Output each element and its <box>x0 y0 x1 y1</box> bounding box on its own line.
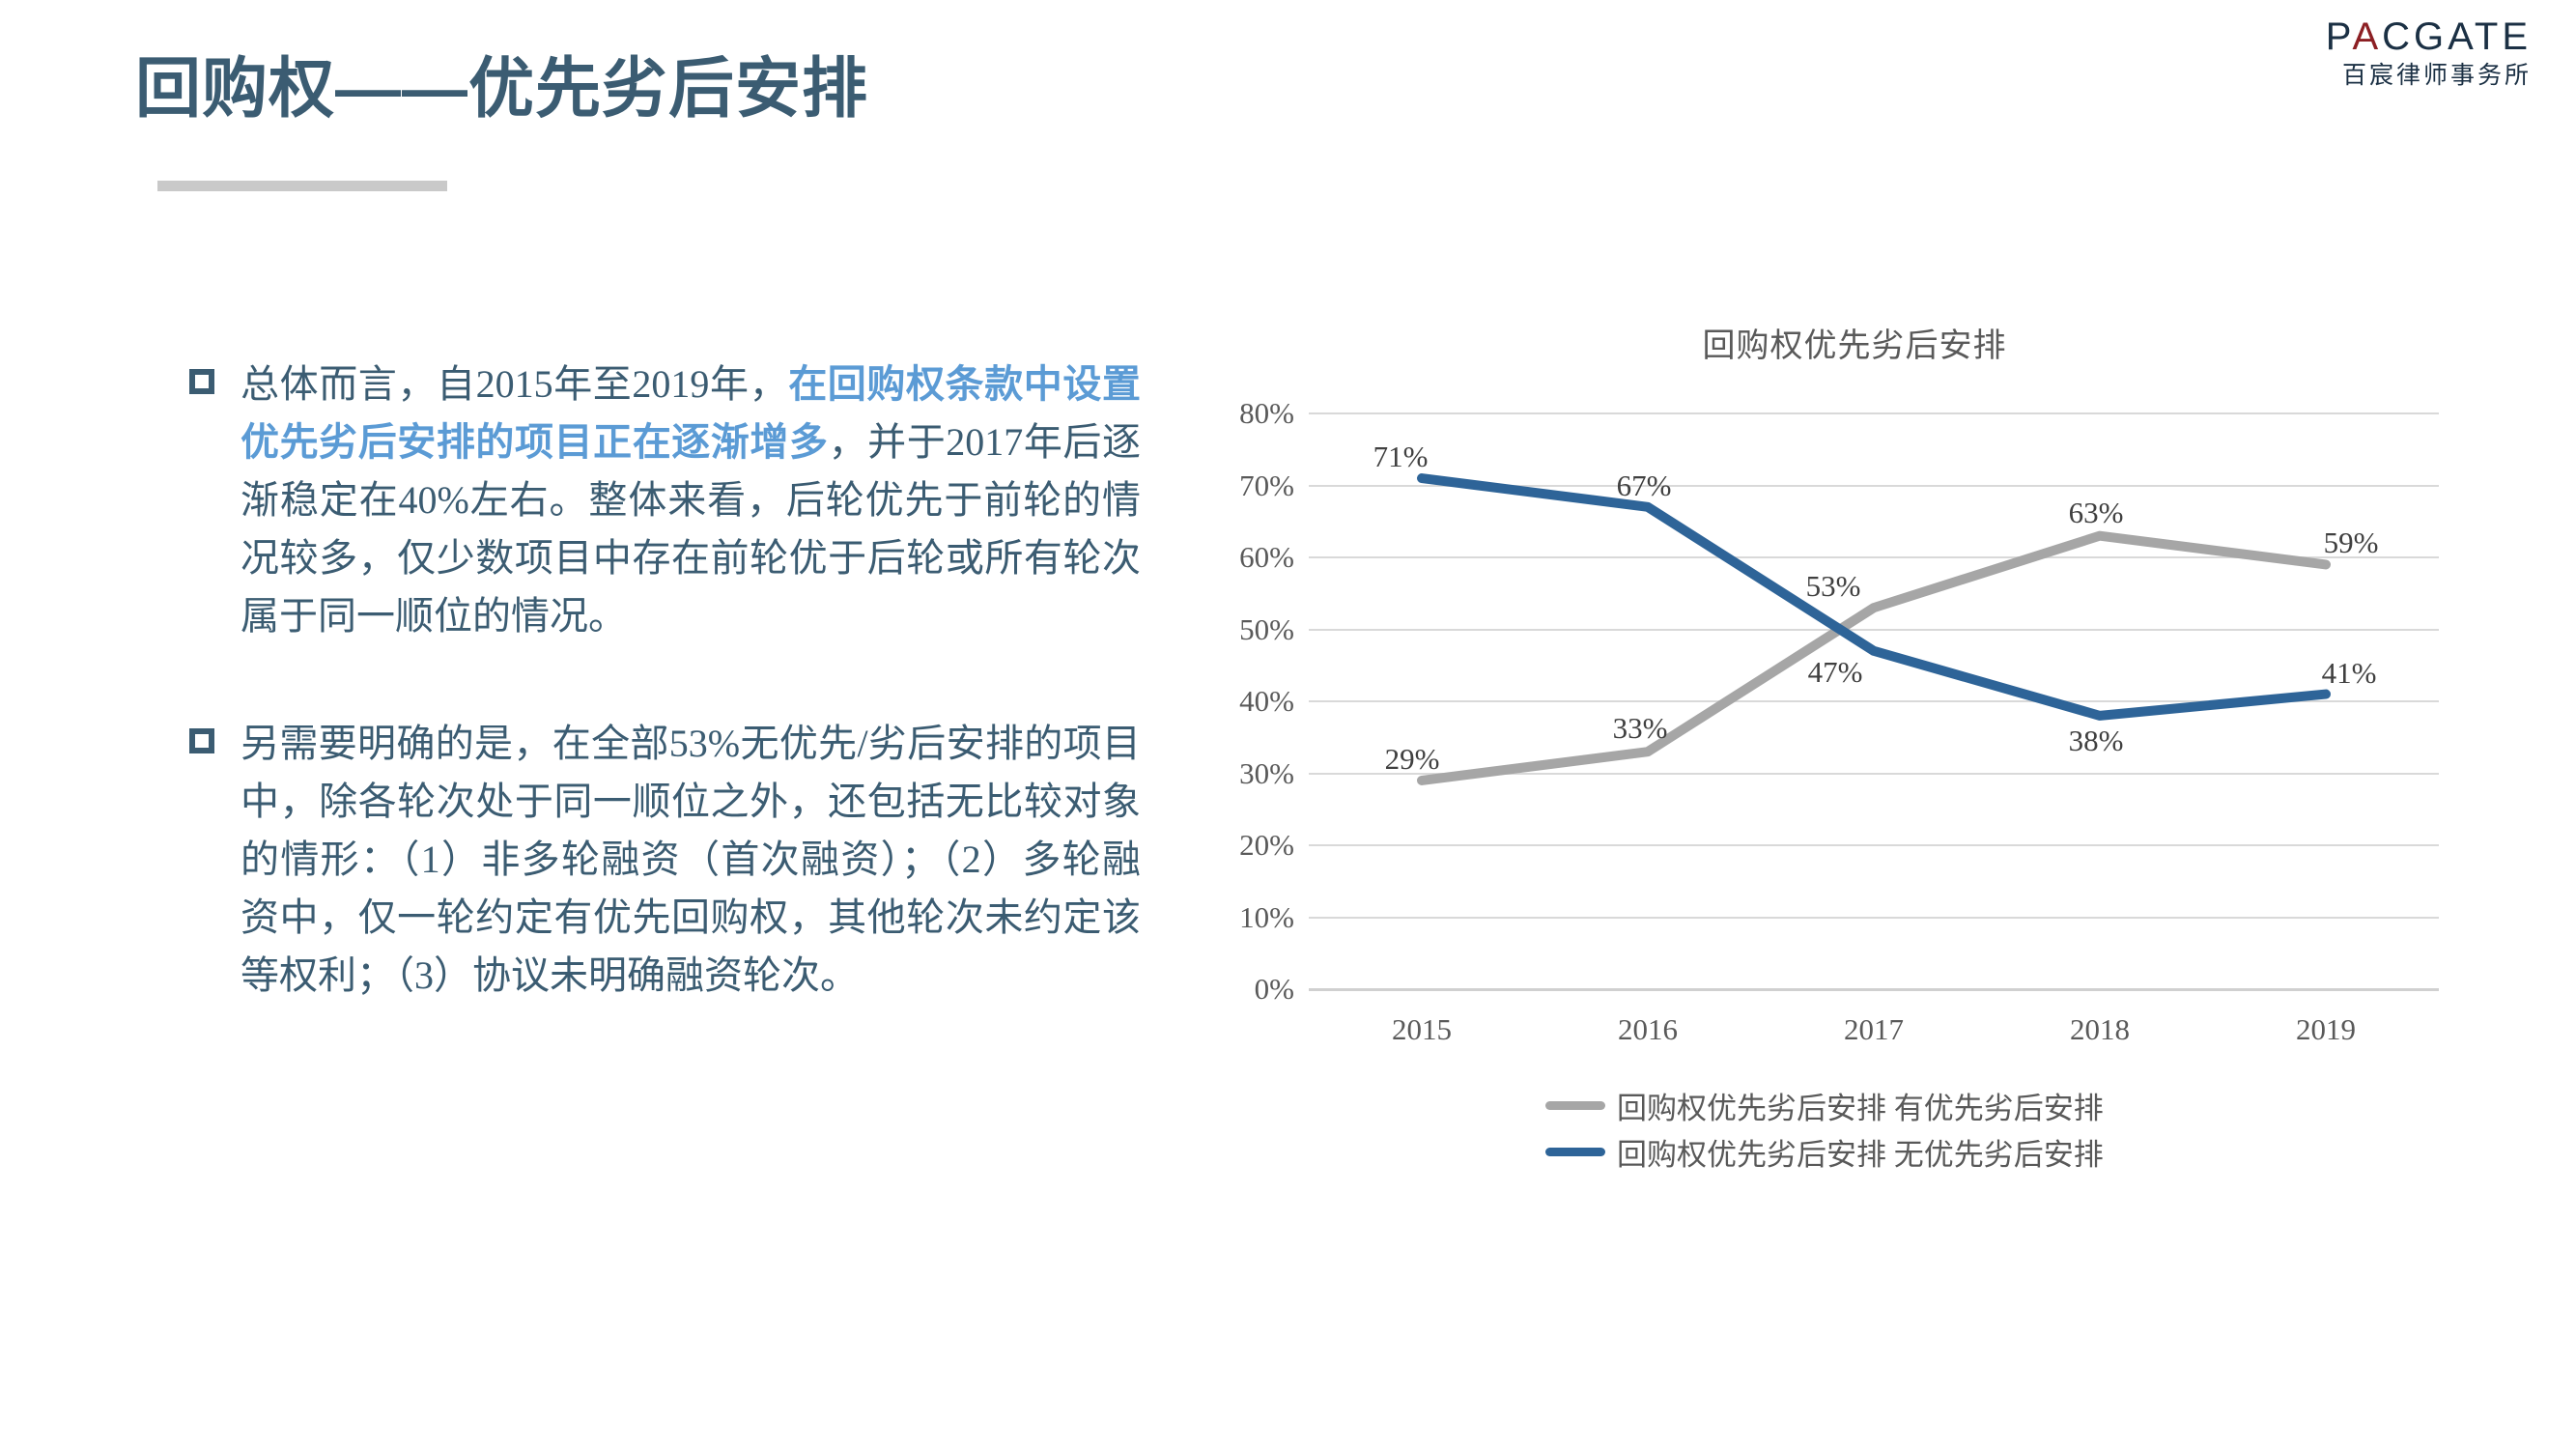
series-line <box>1422 478 2326 716</box>
bullet-2-lead: 另需要明确的是，在全部53%无优先/劣后安排的项目中，除各轮次处于同一顺位之外，… <box>241 722 1141 997</box>
logo-wordmark-accent-letter: A <box>2352 15 2382 58</box>
data-point-label: 38% <box>2069 724 2124 758</box>
series-line <box>1422 536 2326 781</box>
line-chart: 回购权优先劣后安排 0%10%20%30%40%50%60%70%80% 201… <box>1227 319 2482 1121</box>
legend-item[interactable]: 回购权优先劣后安排 有优先劣后安排 <box>1545 1082 2104 1128</box>
logo-wordmark: PACGATE <box>2326 17 2532 56</box>
legend-item[interactable]: 回购权优先劣后安排 无优先劣后安排 <box>1545 1128 2104 1175</box>
list-item: 另需要明确的是，在全部53%无优先/劣后安排的项目中，除各轮次处于同一顺位之外，… <box>189 715 1141 1005</box>
bullet-1-lead: 总体而言，自2015年至2019年， <box>241 362 788 406</box>
company-logo: PACGATE 百宸律师事务所 <box>2326 17 2532 88</box>
data-point-label: 29% <box>1385 742 1440 777</box>
y-axis-tick-label: 60% <box>1159 540 1294 575</box>
list-item: 总体而言，自2015年至2019年，在回购权条款中设置优先劣后安排的项目正在逐渐… <box>189 355 1141 645</box>
chart-title: 回购权优先劣后安排 <box>1227 319 2482 366</box>
logo-chinese-name: 百宸律师事务所 <box>2326 64 2532 88</box>
y-axis-tick-label: 80% <box>1159 396 1294 431</box>
title-underline-rule <box>157 181 447 191</box>
legend-color-swatch <box>1545 1101 1605 1110</box>
page-title: 回购权——优先劣后安排 <box>135 35 868 130</box>
bullet-paragraph: 总体而言，自2015年至2019年，在回购权条款中设置优先劣后安排的项目正在逐渐… <box>241 355 1141 645</box>
data-point-label: 47% <box>1808 655 1863 690</box>
bullet-list: 总体而言，自2015年至2019年，在回购权条款中设置优先劣后安排的项目正在逐渐… <box>189 355 1141 1005</box>
chart-series-lines <box>1309 413 2439 989</box>
x-axis-tick-label: 2016 <box>1551 1012 1744 1047</box>
data-point-label: 53% <box>1806 569 1861 604</box>
y-axis-tick-label: 50% <box>1159 612 1294 647</box>
square-bullet-icon <box>189 369 214 394</box>
x-axis-tick-label: 2017 <box>1777 1012 1970 1047</box>
y-axis-tick-label: 40% <box>1159 684 1294 719</box>
y-axis-tick-label: 70% <box>1159 469 1294 503</box>
data-point-label: 33% <box>1613 711 1668 746</box>
chart-plot-area: 0%10%20%30%40%50%60%70%80% 2015201620172… <box>1309 413 2439 989</box>
data-point-label: 63% <box>2069 496 2124 530</box>
legend-label: 回购权优先劣后安排 无优先劣后安排 <box>1617 1130 2104 1174</box>
x-axis-tick-label: 2019 <box>2229 1012 2422 1047</box>
data-point-label: 71% <box>1373 440 1429 474</box>
data-point-label: 41% <box>2322 656 2377 691</box>
legend-label: 回购权优先劣后安排 有优先劣后安排 <box>1617 1084 2104 1127</box>
bullet-paragraph: 另需要明确的是，在全部53%无优先/劣后安排的项目中，除各轮次处于同一顺位之外，… <box>241 715 1141 1005</box>
x-axis-tick-label: 2015 <box>1325 1012 1518 1047</box>
x-axis-tick-label: 2018 <box>2003 1012 2196 1047</box>
y-axis-tick-label: 20% <box>1159 828 1294 863</box>
square-bullet-icon <box>189 728 214 753</box>
logo-wordmark-prefix: P <box>2326 15 2353 58</box>
y-axis-tick-label: 30% <box>1159 756 1294 791</box>
legend-color-swatch <box>1545 1148 1605 1156</box>
logo-wordmark-suffix: CGATE <box>2382 15 2532 58</box>
chart-legend: 回购权优先劣后安排 有优先劣后安排回购权优先劣后安排 无优先劣后安排 <box>1545 1082 2104 1175</box>
data-point-label: 59% <box>2324 526 2379 560</box>
y-axis-tick-label: 10% <box>1159 900 1294 935</box>
y-axis-tick-label: 0% <box>1159 972 1294 1007</box>
data-point-label: 67% <box>1617 469 1672 503</box>
